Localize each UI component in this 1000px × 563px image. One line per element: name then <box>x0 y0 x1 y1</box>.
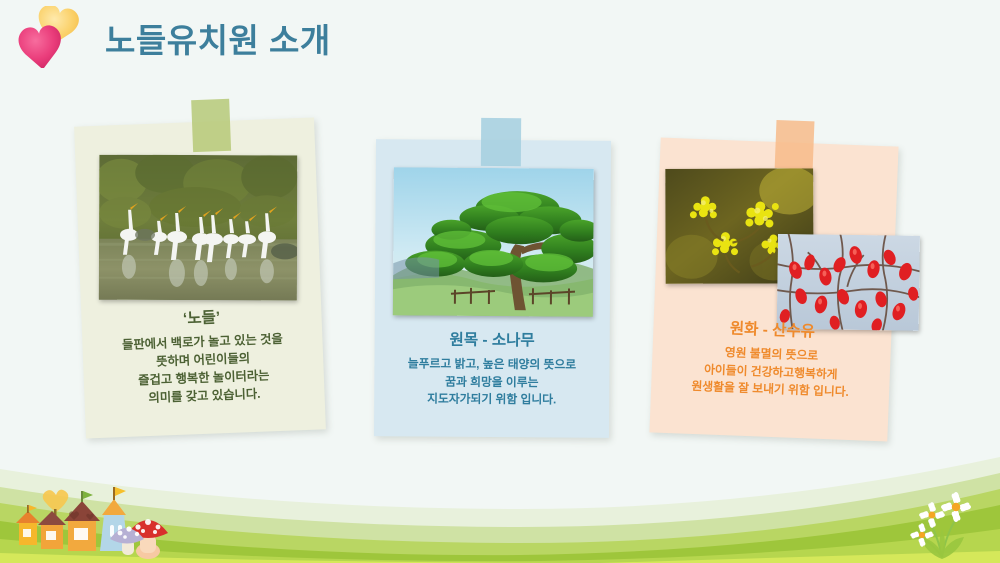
card-line: 지도자가되기 위함 입니다. <box>374 390 609 409</box>
card-wonmok[interactable]: 원목 - 소나무 늘푸르고 밝고, 높은 태양의 뜻으로 꿈과 희망을 이루는 … <box>374 139 611 438</box>
card-caption-nodeul: ‘노들’ 들판에서 백로가 놀고 있는 것을 뜻하며 어린이들의 즐겁고 행복한… <box>81 303 325 410</box>
white-egrets-in-wetland-photo <box>99 155 298 301</box>
card-caption-wonhwa: 원화 - 산수유 영원 불멸의 뜻으로 아이들이 건강하고행복하게 원생활을 잘… <box>651 315 892 402</box>
village-houses-icon <box>10 481 200 561</box>
tape-strip <box>481 118 521 166</box>
card-line: 꿈과 희망을 이루는 <box>374 373 609 392</box>
pine-tree-photo <box>393 167 594 316</box>
daisy-flowers-icon <box>902 483 982 561</box>
card-nodeul[interactable]: ‘노들’ 들판에서 백로가 놀고 있는 것을 뜻하며 어린이들의 즐겁고 행복한… <box>74 118 326 439</box>
card-title: 원목 - 소나무 <box>375 329 610 353</box>
bottom-scenery <box>0 443 1000 563</box>
card-caption-wonmok: 원목 - 소나무 늘푸르고 밝고, 높은 태양의 뜻으로 꿈과 희망을 이루는 … <box>374 329 610 408</box>
page-title: 노들유치원 소개 <box>105 14 331 62</box>
red-cornelian-cherry-berries-photo <box>777 234 920 331</box>
slide-canvas: 노들유치원 소개 <box>0 0 1000 563</box>
tape-strip <box>191 99 231 152</box>
card-line: 늘푸르고 밝고, 높은 태양의 뜻으로 <box>374 356 609 375</box>
card-wonhwa[interactable]: 원화 - 산수유 영원 불멸의 뜻으로 아이들이 건강하고행복하게 원생활을 잘… <box>649 138 898 442</box>
tape-strip <box>775 120 815 169</box>
double-heart-icon <box>14 6 92 68</box>
slide-header: 노들유치원 소개 <box>0 0 1000 82</box>
